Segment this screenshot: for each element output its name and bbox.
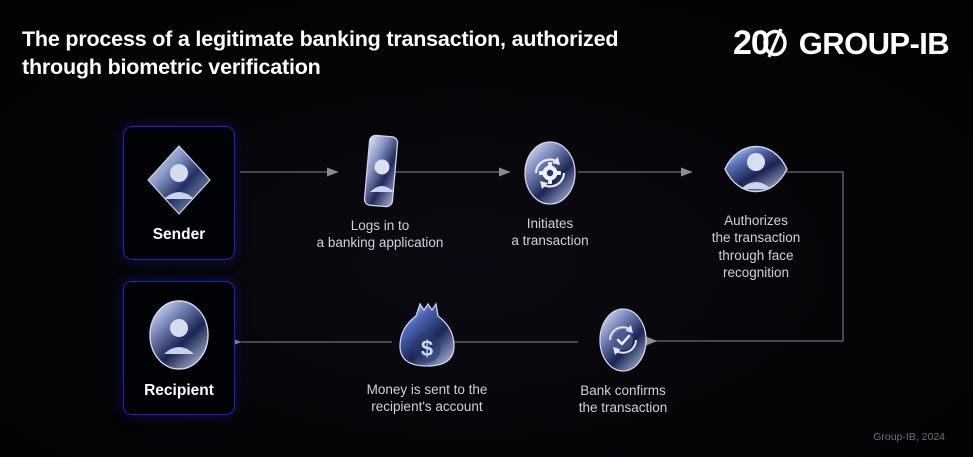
face-recognition-eye-icon: [719, 133, 793, 205]
gear-refresh-icon: [519, 138, 581, 208]
endpoint-recipient[interactable]: Recipient: [123, 281, 235, 415]
step-login[interactable]: Logs in to a banking application: [305, 134, 455, 252]
step-caption-face-recognition: Authorizes the transaction through face …: [712, 212, 801, 281]
check-refresh-icon: [594, 305, 652, 375]
svg-text:$: $: [421, 336, 433, 361]
person-circle-icon: [143, 296, 215, 374]
step-initiate[interactable]: Initiates a transaction: [490, 138, 610, 250]
smartphone-person-icon: [358, 134, 402, 210]
footer-credit: Group-IB, 2024: [873, 431, 945, 443]
step-caption-initiate: Initiates a transaction: [511, 215, 588, 250]
person-diamond-icon: [144, 142, 214, 218]
step-caption-bank-confirm: Bank confirms the transaction: [579, 382, 668, 417]
step-caption-money-sent: Money is sent to the recipient's account: [367, 381, 488, 416]
endpoint-sender[interactable]: Sender: [123, 126, 235, 260]
slide-canvas: The process of a legitimate banking tran…: [0, 0, 973, 457]
endpoint-label-sender: Sender: [153, 226, 206, 244]
money-bag-icon: $: [394, 300, 460, 374]
step-face-recognition[interactable]: Authorizes the transaction through face …: [672, 133, 840, 281]
step-bank-confirm[interactable]: Bank confirms the transaction: [548, 305, 698, 417]
step-caption-login: Logs in to a banking application: [317, 217, 444, 252]
endpoint-label-recipient: Recipient: [144, 382, 214, 400]
step-money-sent[interactable]: $ Money is sent to the recipient's accou…: [348, 300, 506, 416]
